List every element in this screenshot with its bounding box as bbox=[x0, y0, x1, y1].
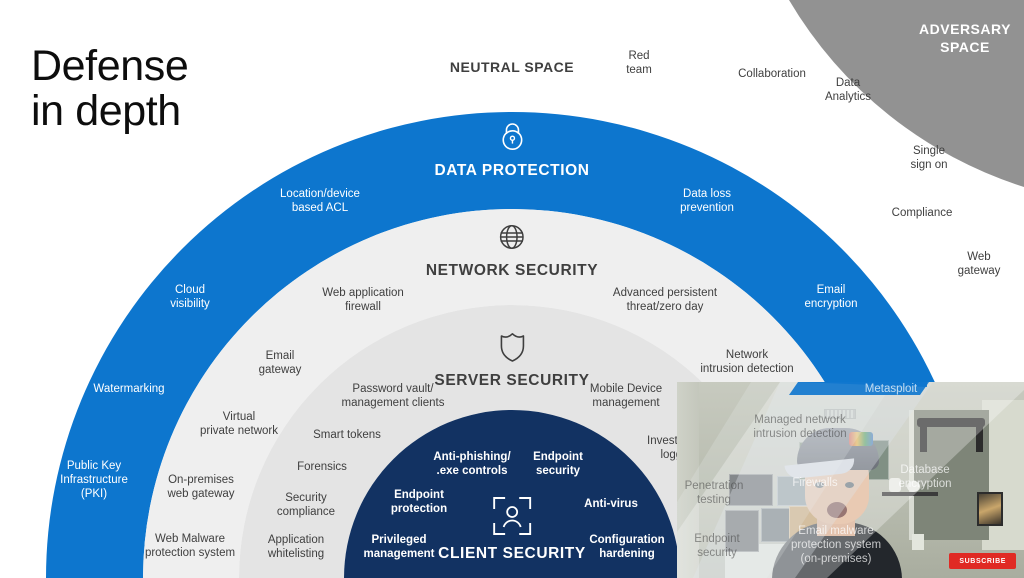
diagram-bleed-through bbox=[677, 382, 1024, 578]
slide-canvas: Defense in depth NEUTRAL SPACE ADVERSARY… bbox=[0, 0, 1024, 578]
subscribe-button[interactable]: SUBSCRIBE bbox=[949, 553, 1016, 569]
adversary-space-label: ADVERSARY SPACE bbox=[919, 21, 1011, 57]
neutral-space-label: NEUTRAL SPACE bbox=[450, 59, 574, 75]
page-title: Defense in depth bbox=[31, 44, 188, 134]
webcam-video-overlay[interactable]: SUBSCRIBE bbox=[677, 382, 1024, 578]
